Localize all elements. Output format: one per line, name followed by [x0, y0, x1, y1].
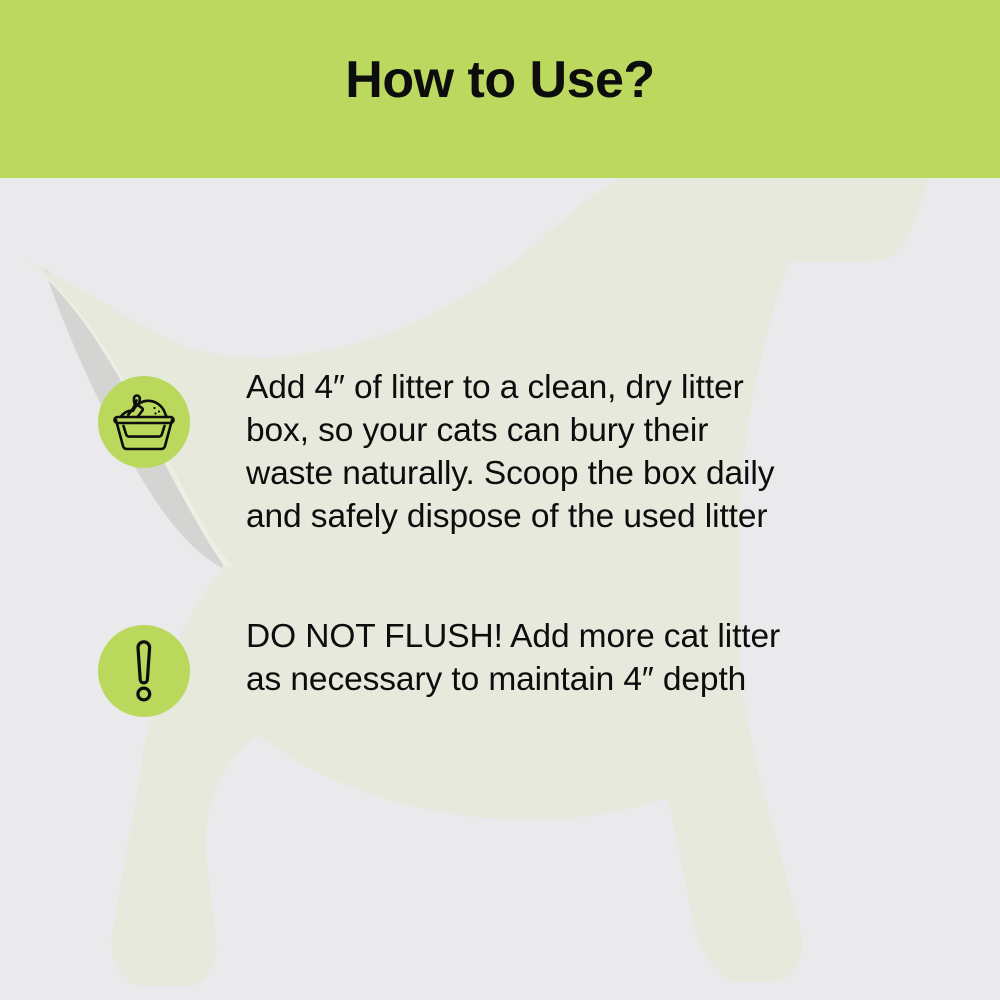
instruction-text: Add 4″ of litter to a clean, dry litter … [246, 366, 936, 538]
litter-box-icon-badge [98, 376, 190, 468]
exclamation-mark-icon-badge [98, 625, 190, 717]
page-title: How to Use? [345, 54, 654, 106]
dog-body-shape [28, 178, 930, 986]
instruction-text: DO NOT FLUSH! Add more cat litter as nec… [246, 615, 936, 701]
how-to-use-panel: How to Use? [0, 0, 1000, 1000]
instruction-row: Add 4″ of litter to a clean, dry litter … [98, 376, 936, 548]
header-banner: How to Use? [0, 0, 1000, 178]
litter-box-icon [111, 392, 177, 452]
exclamation-mark-icon [127, 640, 161, 702]
instruction-row: DO NOT FLUSH! Add more cat litter as nec… [98, 625, 936, 717]
